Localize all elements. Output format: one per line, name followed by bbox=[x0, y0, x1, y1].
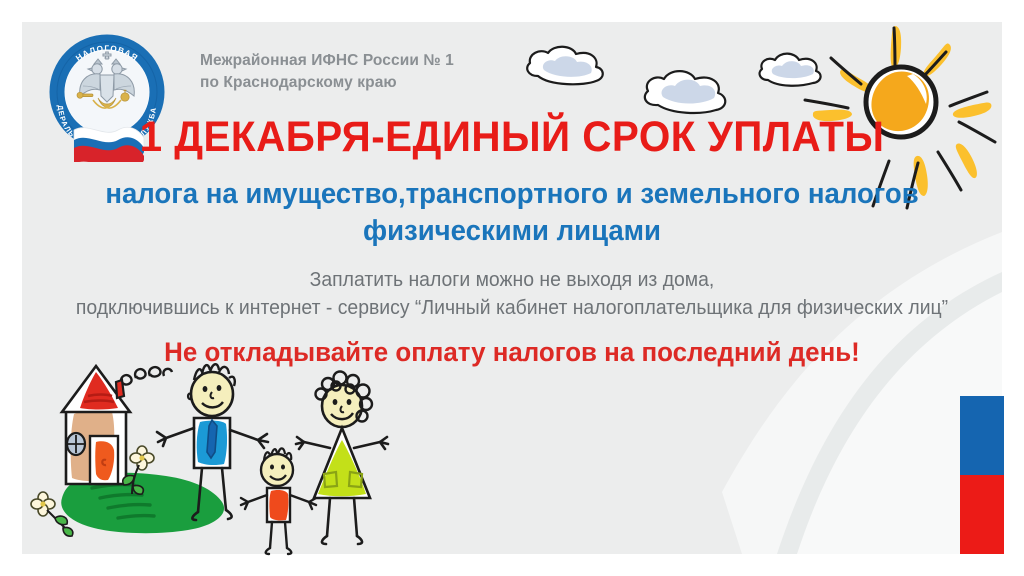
flag-stripe-red bbox=[960, 475, 1004, 554]
russian-flag-bar bbox=[960, 396, 1004, 554]
family-drawing bbox=[18, 352, 413, 567]
agency-name: Межрайонная ИФНС России № 1 по Краснодар… bbox=[200, 50, 530, 94]
smoke-spirals bbox=[121, 367, 172, 384]
body-text-group: Заплатить налоги можно не выходя из дома… bbox=[0, 266, 1024, 323]
body-line2: подключившись к интернет - сервису “Личн… bbox=[15, 294, 1008, 322]
main-headline: 1 ДЕКАБРЯ-ЕДИНЫЙ СРОК УПЛАТЫ bbox=[31, 116, 994, 160]
headline-group: 1 ДЕКАБРЯ-ЕДИНЫЙ СРОК УПЛАТЫ налога на и… bbox=[0, 116, 1024, 250]
mother-figure bbox=[296, 372, 388, 545]
child-figure bbox=[241, 448, 316, 554]
subheadline-line1: налога на имущество,транспортного и земе… bbox=[26, 176, 999, 213]
agency-name-line2: по Краснодарскому краю bbox=[200, 72, 530, 94]
house bbox=[62, 366, 130, 484]
poster-canvas: НАЛОГОВАЯ ФЕДЕРАЛЬНАЯ СЛУЖБА bbox=[0, 0, 1024, 576]
cloud-icon bbox=[527, 47, 603, 85]
subheadline-line2: физическими лицами bbox=[26, 213, 999, 250]
cloud-icon bbox=[645, 71, 725, 113]
body-line1: Заплатить налоги можно не выходя из дома… bbox=[15, 266, 1008, 294]
agency-name-line1: Межрайонная ИФНС России № 1 bbox=[200, 50, 530, 72]
flag-stripe-blue bbox=[960, 396, 1004, 475]
